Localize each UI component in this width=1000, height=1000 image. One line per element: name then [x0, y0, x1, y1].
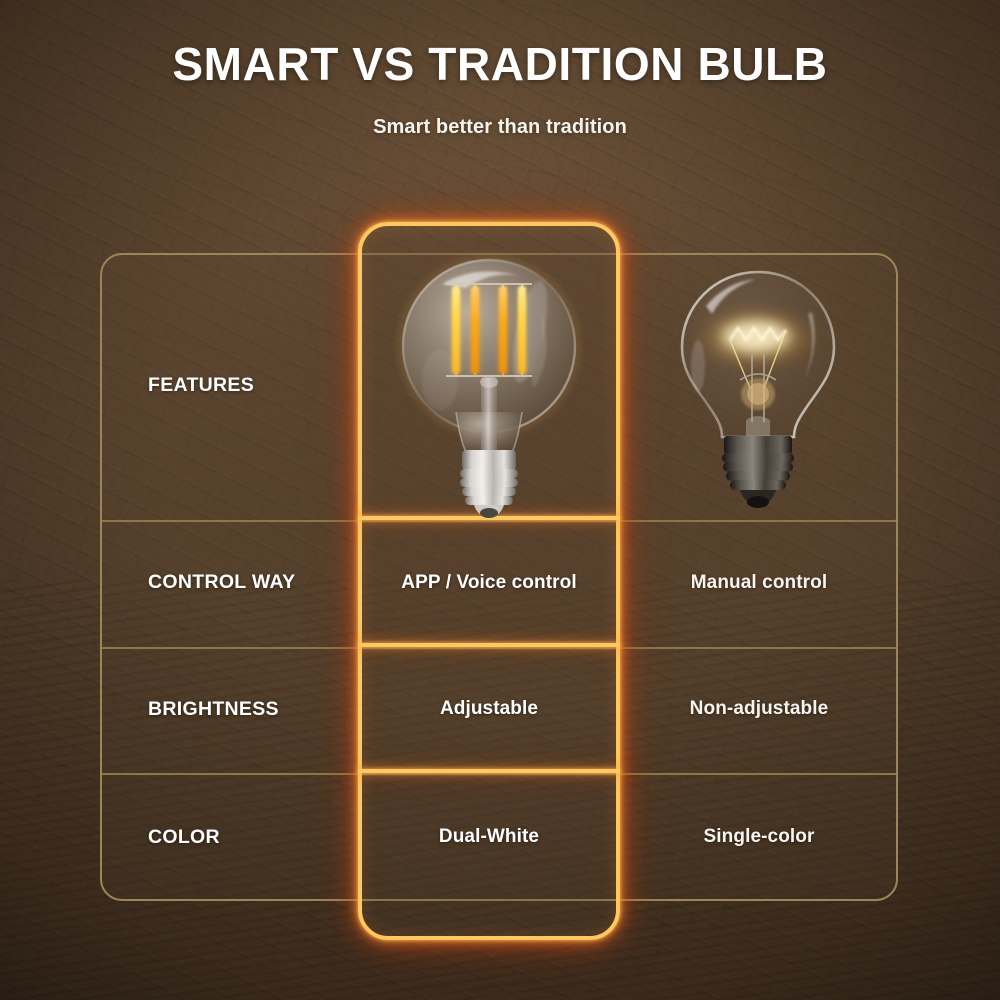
row-label-brightness: BRIGHTNESS: [100, 647, 358, 771]
row-label-control-way: CONTROL WAY: [100, 520, 358, 645]
page-subtitle: Smart better than tradition: [0, 116, 1000, 139]
tradition-control-way-value: Manual control: [620, 520, 898, 645]
smart-color-value: Dual-White: [358, 773, 620, 901]
tradition-brightness-value: Non-adjustable: [620, 647, 898, 771]
smart-led-globe-bulb-icon: [380, 240, 598, 518]
row-label-color: COLOR: [100, 773, 358, 901]
row-label-features: FEATURES: [100, 253, 358, 518]
smart-brightness-value: Adjustable: [358, 647, 620, 771]
infographic-canvas: SMART VS TRADITION BULB Smart better tha…: [0, 0, 1000, 1000]
traditional-incandescent-bulb-icon: [668, 262, 848, 510]
smart-control-way-value: APP / Voice control: [358, 520, 620, 645]
header: SMART VS TRADITION BULB Smart better tha…: [0, 40, 1000, 139]
tradition-color-value: Single-color: [620, 773, 898, 901]
page-title: SMART VS TRADITION BULB: [0, 40, 1000, 88]
